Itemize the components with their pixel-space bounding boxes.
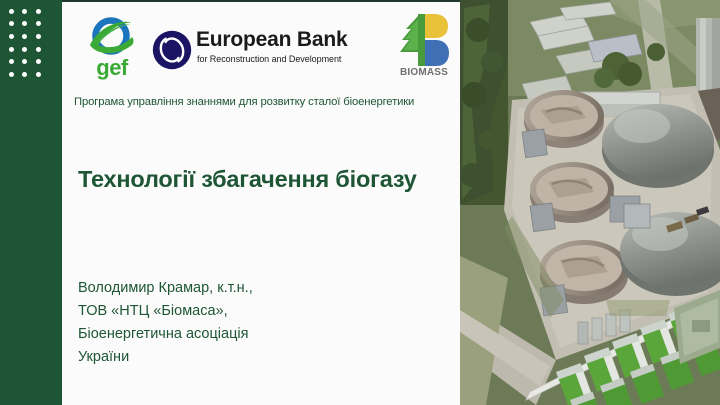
biomass-logo: BIOMASS — [392, 12, 456, 88]
author-line: Володимир Крамар, к.т.н., — [78, 277, 438, 300]
grid-dot — [36, 9, 41, 14]
grid-dot — [9, 34, 14, 39]
gef-globe-icon — [86, 14, 136, 61]
sponsor-logo-bar: gef European Bank for Reconstruction and… — [62, 8, 460, 90]
grid-dot — [22, 59, 27, 64]
presentation-slide: gef European Bank for Reconstruction and… — [0, 0, 720, 405]
program-subtitle: Програма управління знаннями для розвитк… — [74, 96, 456, 108]
grid-dot — [22, 34, 27, 39]
grid-dot — [9, 21, 14, 26]
grid-dot — [22, 9, 27, 14]
author-affiliation-block: Володимир Крамар, к.т.н., ТОВ «НТЦ «Біом… — [78, 277, 438, 369]
grid-dot — [36, 47, 41, 52]
author-line: Біоенергетична асоціація — [78, 323, 438, 346]
grid-dot — [36, 21, 41, 26]
grid-dot — [9, 72, 14, 77]
slide-content-column: gef European Bank for Reconstruction and… — [62, 2, 460, 405]
gef-wordmark: gef — [78, 56, 146, 80]
grid-dot — [22, 47, 27, 52]
biomass-tree-b-icon — [399, 12, 449, 68]
author-line: ТОВ «НТЦ «Біомаса», — [78, 300, 438, 323]
decorative-dot-grid — [5, 5, 45, 81]
grid-dot — [9, 47, 14, 52]
aerial-photo-illustration — [460, 0, 720, 405]
author-line: України — [78, 346, 438, 369]
left-green-sidebar — [0, 0, 62, 405]
ebrd-logo: European Bank for Reconstruction and Dev… — [152, 26, 368, 76]
grid-dot — [36, 34, 41, 39]
biogas-plant-aerial-photo — [460, 0, 720, 405]
ebrd-subtitle: for Reconstruction and Development — [197, 54, 341, 64]
grid-dot — [22, 21, 27, 26]
ebrd-circle-icon — [152, 30, 192, 70]
biomass-wordmark: BIOMASS — [392, 67, 456, 78]
grid-dot — [36, 59, 41, 64]
grid-dot — [9, 9, 14, 14]
gef-logo: gef — [78, 14, 146, 86]
slide-title: Технології збагачення біогазу — [78, 164, 454, 194]
grid-dot — [22, 72, 27, 77]
ebrd-title: European Bank — [196, 28, 347, 52]
grid-dot — [9, 59, 14, 64]
grid-dot — [36, 72, 41, 77]
